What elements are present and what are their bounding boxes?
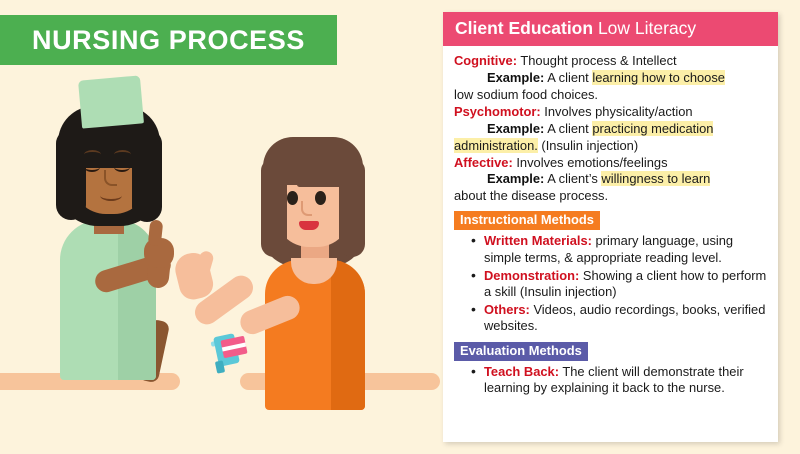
illustration-scene (0, 70, 440, 454)
list-item: Demonstration: Showing a client how to p… (484, 268, 767, 301)
cognitive-example-label: Example: (487, 70, 544, 85)
psychomotor-example-post: (Insulin injection) (538, 138, 638, 153)
affective-example-post: about the disease process. (454, 188, 608, 203)
teach-back-label: Teach Back: (484, 364, 559, 379)
psychomotor-example-label: Example: (487, 121, 544, 136)
evaluation-methods-badge-row: Evaluation Methods (454, 342, 767, 361)
nurse-hair-right (132, 130, 162, 222)
infographic-page: NURSING PROCESS (0, 0, 800, 454)
affective-label: Affective: (454, 155, 513, 170)
domain-cognitive-example-line2: low sodium food choices. (454, 87, 767, 103)
card-header-light: Low Literacy (598, 18, 696, 38)
written-materials-label: Written Materials: (484, 233, 592, 248)
nurse-character (40, 70, 220, 400)
domain-cognitive-example-line1: Example: A client learning how to choose (454, 70, 767, 86)
psychomotor-example-pre: A client (547, 121, 592, 136)
affective-definition: Involves emotions/feelings (516, 155, 667, 170)
instructional-methods-badge-row: Instructional Methods (454, 211, 767, 230)
nurse-eyebrow-left (84, 150, 101, 159)
instructional-methods-list: Written Materials: primary language, usi… (454, 233, 767, 334)
patient-hair-left (261, 159, 287, 257)
psychomotor-example-highlight2: administration. (454, 138, 538, 153)
card-header-bold: Client Education (455, 18, 593, 38)
domain-affective-example-line2: about the disease process. (454, 188, 767, 204)
nurse-mouth (100, 190, 122, 201)
list-item: Written Materials: primary language, usi… (484, 233, 767, 266)
instructional-methods-badge: Instructional Methods (454, 211, 600, 230)
demonstration-label: Demonstration: (484, 268, 579, 283)
patient-eye-right (315, 191, 326, 205)
psychomotor-label: Psychomotor: (454, 104, 541, 119)
patient-eye-left (287, 191, 298, 205)
patient-character (235, 125, 415, 405)
patient-eyebrow-left (285, 181, 300, 189)
affective-example-highlight: willingness to learn (601, 171, 710, 186)
cognitive-label: Cognitive: (454, 53, 517, 68)
domain-affective-example-line1: Example: A client’s willingness to learn (454, 171, 767, 187)
nurse-eyebrow-right (114, 150, 131, 159)
nurse-eye-left (84, 162, 100, 172)
nurse-nose (104, 170, 117, 186)
title-banner: NURSING PROCESS (0, 15, 337, 65)
insulin-pen-icon (210, 325, 250, 381)
client-education-card: Client Education Low Literacy Cognitive:… (443, 12, 778, 442)
nurse-hair-left (56, 130, 86, 220)
domain-psychomotor-definition: Psychomotor: Involves physicality/action (454, 104, 767, 120)
evaluation-methods-badge: Evaluation Methods (454, 342, 588, 361)
cognitive-example-highlight: learning how to choose (592, 70, 725, 85)
others-label: Others: (484, 302, 530, 317)
cognitive-definition: Thought process & Intellect (520, 53, 676, 68)
evaluation-methods-list: Teach Back: The client will demonstrate … (454, 364, 767, 397)
domain-psychomotor-example-line2: administration. (Insulin injection) (454, 138, 767, 154)
domain-affective-definition: Affective: Involves emotions/feelings (454, 155, 767, 171)
card-header: Client Education Low Literacy (443, 12, 778, 46)
cognitive-example-pre: A client (547, 70, 592, 85)
page-title: NURSING PROCESS (32, 25, 305, 56)
psychomotor-definition: Involves physicality/action (544, 104, 692, 119)
patient-nose (301, 201, 312, 216)
left-illustration-panel: NURSING PROCESS (0, 0, 440, 454)
patient-shirt-shadow (331, 260, 365, 410)
list-item: Others: Videos, audio recordings, books,… (484, 302, 767, 335)
affective-example-pre: A client’s (547, 171, 601, 186)
domain-cognitive-definition: Cognitive: Thought process & Intellect (454, 53, 767, 69)
psychomotor-example-highlight: practicing medication (592, 121, 713, 136)
nurse-cap (78, 75, 144, 128)
patient-hair-right (339, 159, 365, 257)
card-header-text: Client Education Low Literacy (455, 19, 766, 38)
patient-eyebrow-right (313, 181, 328, 189)
domain-psychomotor-example-line1: Example: A client practicing medication (454, 121, 767, 137)
patient-mouth (299, 221, 319, 230)
affective-example-label: Example: (487, 171, 544, 186)
card-body: Cognitive: Thought process & Intellect E… (443, 46, 778, 397)
cognitive-example-post: low sodium food choices. (454, 87, 598, 102)
list-item: Teach Back: The client will demonstrate … (484, 364, 767, 397)
